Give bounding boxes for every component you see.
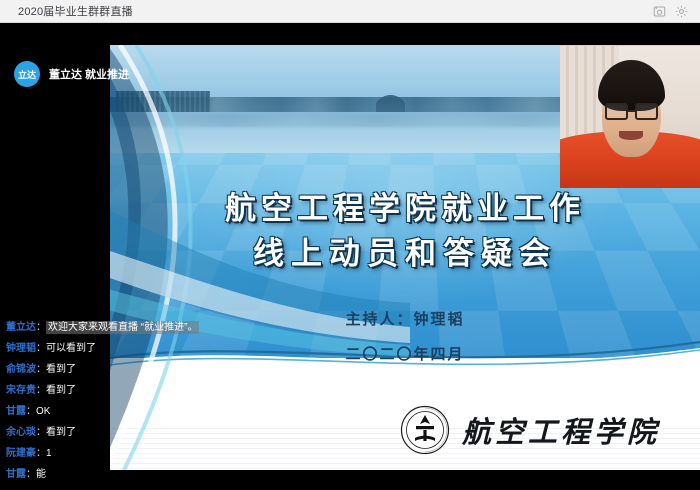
chat-message-user: 钟理韬 bbox=[6, 343, 36, 354]
chat-message-separator: ： bbox=[26, 469, 36, 480]
chat-message: 余心琰：看到了 bbox=[6, 427, 156, 438]
chat-message-user: 董立达 bbox=[6, 322, 36, 333]
chat-message: 俞锦波：看到了 bbox=[6, 364, 156, 375]
school-logo-text: 航空工程学院 bbox=[462, 409, 660, 451]
chat-message-text: 能 bbox=[36, 469, 46, 480]
chat-message-text: 可以看到了 bbox=[46, 343, 96, 354]
slide-title: 航空工程学院就业工作 线上动员和答疑会 bbox=[110, 187, 700, 277]
presenter-bar: 立达 董立达 就业推进 bbox=[14, 61, 129, 87]
webcam-feed[interactable] bbox=[560, 46, 700, 188]
chat-overlay[interactable]: 董立达：欢迎大家来观看直播 “就业推进”。钟理韬：可以看到了俞锦波：看到了宋存贵… bbox=[6, 322, 156, 480]
chat-message-text: OK bbox=[36, 406, 50, 417]
chat-message-separator: ： bbox=[36, 448, 46, 459]
avatar[interactable]: 立达 bbox=[14, 61, 40, 87]
chat-message: 宋存贵：看到了 bbox=[6, 385, 156, 396]
chat-message-user: 甘露 bbox=[6, 406, 26, 417]
chat-message: 甘露：能 bbox=[6, 469, 156, 480]
chat-message: 董立达：欢迎大家来观看直播 “就业推进”。 bbox=[6, 322, 156, 333]
chat-message-separator: ： bbox=[36, 427, 46, 438]
chat-message-text: 欢迎大家来观看直播 “就业推进”。 bbox=[46, 321, 199, 334]
glasses-lens-right bbox=[635, 103, 658, 120]
chat-message-separator: ： bbox=[36, 364, 46, 375]
chat-message-separator: ： bbox=[36, 343, 46, 354]
chat-message-user: 甘露 bbox=[6, 469, 26, 480]
live-stream-window: 2020届毕业生群群直播 bbox=[0, 0, 700, 490]
window-title-bar: 2020届毕业生群群直播 bbox=[0, 0, 700, 23]
school-seal-icon bbox=[400, 405, 450, 455]
school-logo: 航空工程学院 bbox=[400, 405, 660, 455]
settings-icon[interactable] bbox=[675, 5, 688, 18]
chat-message-user: 宋存贵 bbox=[6, 385, 36, 396]
chat-message: 阮建豪：1 bbox=[6, 448, 156, 459]
chat-message-separator: ： bbox=[36, 385, 46, 396]
slide-title-line-1: 航空工程学院就业工作 bbox=[225, 191, 585, 226]
webcam-person-glasses bbox=[605, 103, 658, 120]
window-title: 2020届毕业生群群直播 bbox=[18, 3, 133, 19]
glasses-bridge bbox=[628, 110, 634, 112]
chat-message: 甘露：OK bbox=[6, 406, 156, 417]
slide-title-line-2: 线上动员和答疑会 bbox=[110, 232, 700, 277]
glasses-lens-left bbox=[605, 103, 628, 120]
chat-message-user: 余心琰 bbox=[6, 427, 36, 438]
chat-message-user: 俞锦波 bbox=[6, 364, 36, 375]
chat-message-text: 1 bbox=[46, 448, 52, 459]
chat-message: 钟理韬：可以看到了 bbox=[6, 343, 156, 354]
chat-message-separator: ： bbox=[26, 406, 36, 417]
slide-date: 二〇二〇年四月 bbox=[110, 343, 700, 364]
chat-message-separator: ： bbox=[36, 322, 46, 333]
chat-message-user: 阮建豪 bbox=[6, 448, 36, 459]
video-stage[interactable]: 航空工程学院就业工作 线上动员和答疑会 主持人：钟理韬 二〇二〇年四月 bbox=[0, 23, 700, 490]
webcam-person-mouth bbox=[619, 131, 643, 140]
window-controls bbox=[653, 5, 688, 18]
presenter-name: 董立达 就业推进 bbox=[49, 66, 129, 82]
chat-message-text: 看到了 bbox=[46, 427, 76, 438]
screenshot-icon[interactable] bbox=[653, 5, 666, 18]
chat-message-text: 看到了 bbox=[46, 385, 76, 396]
chat-message-text: 看到了 bbox=[46, 364, 76, 375]
